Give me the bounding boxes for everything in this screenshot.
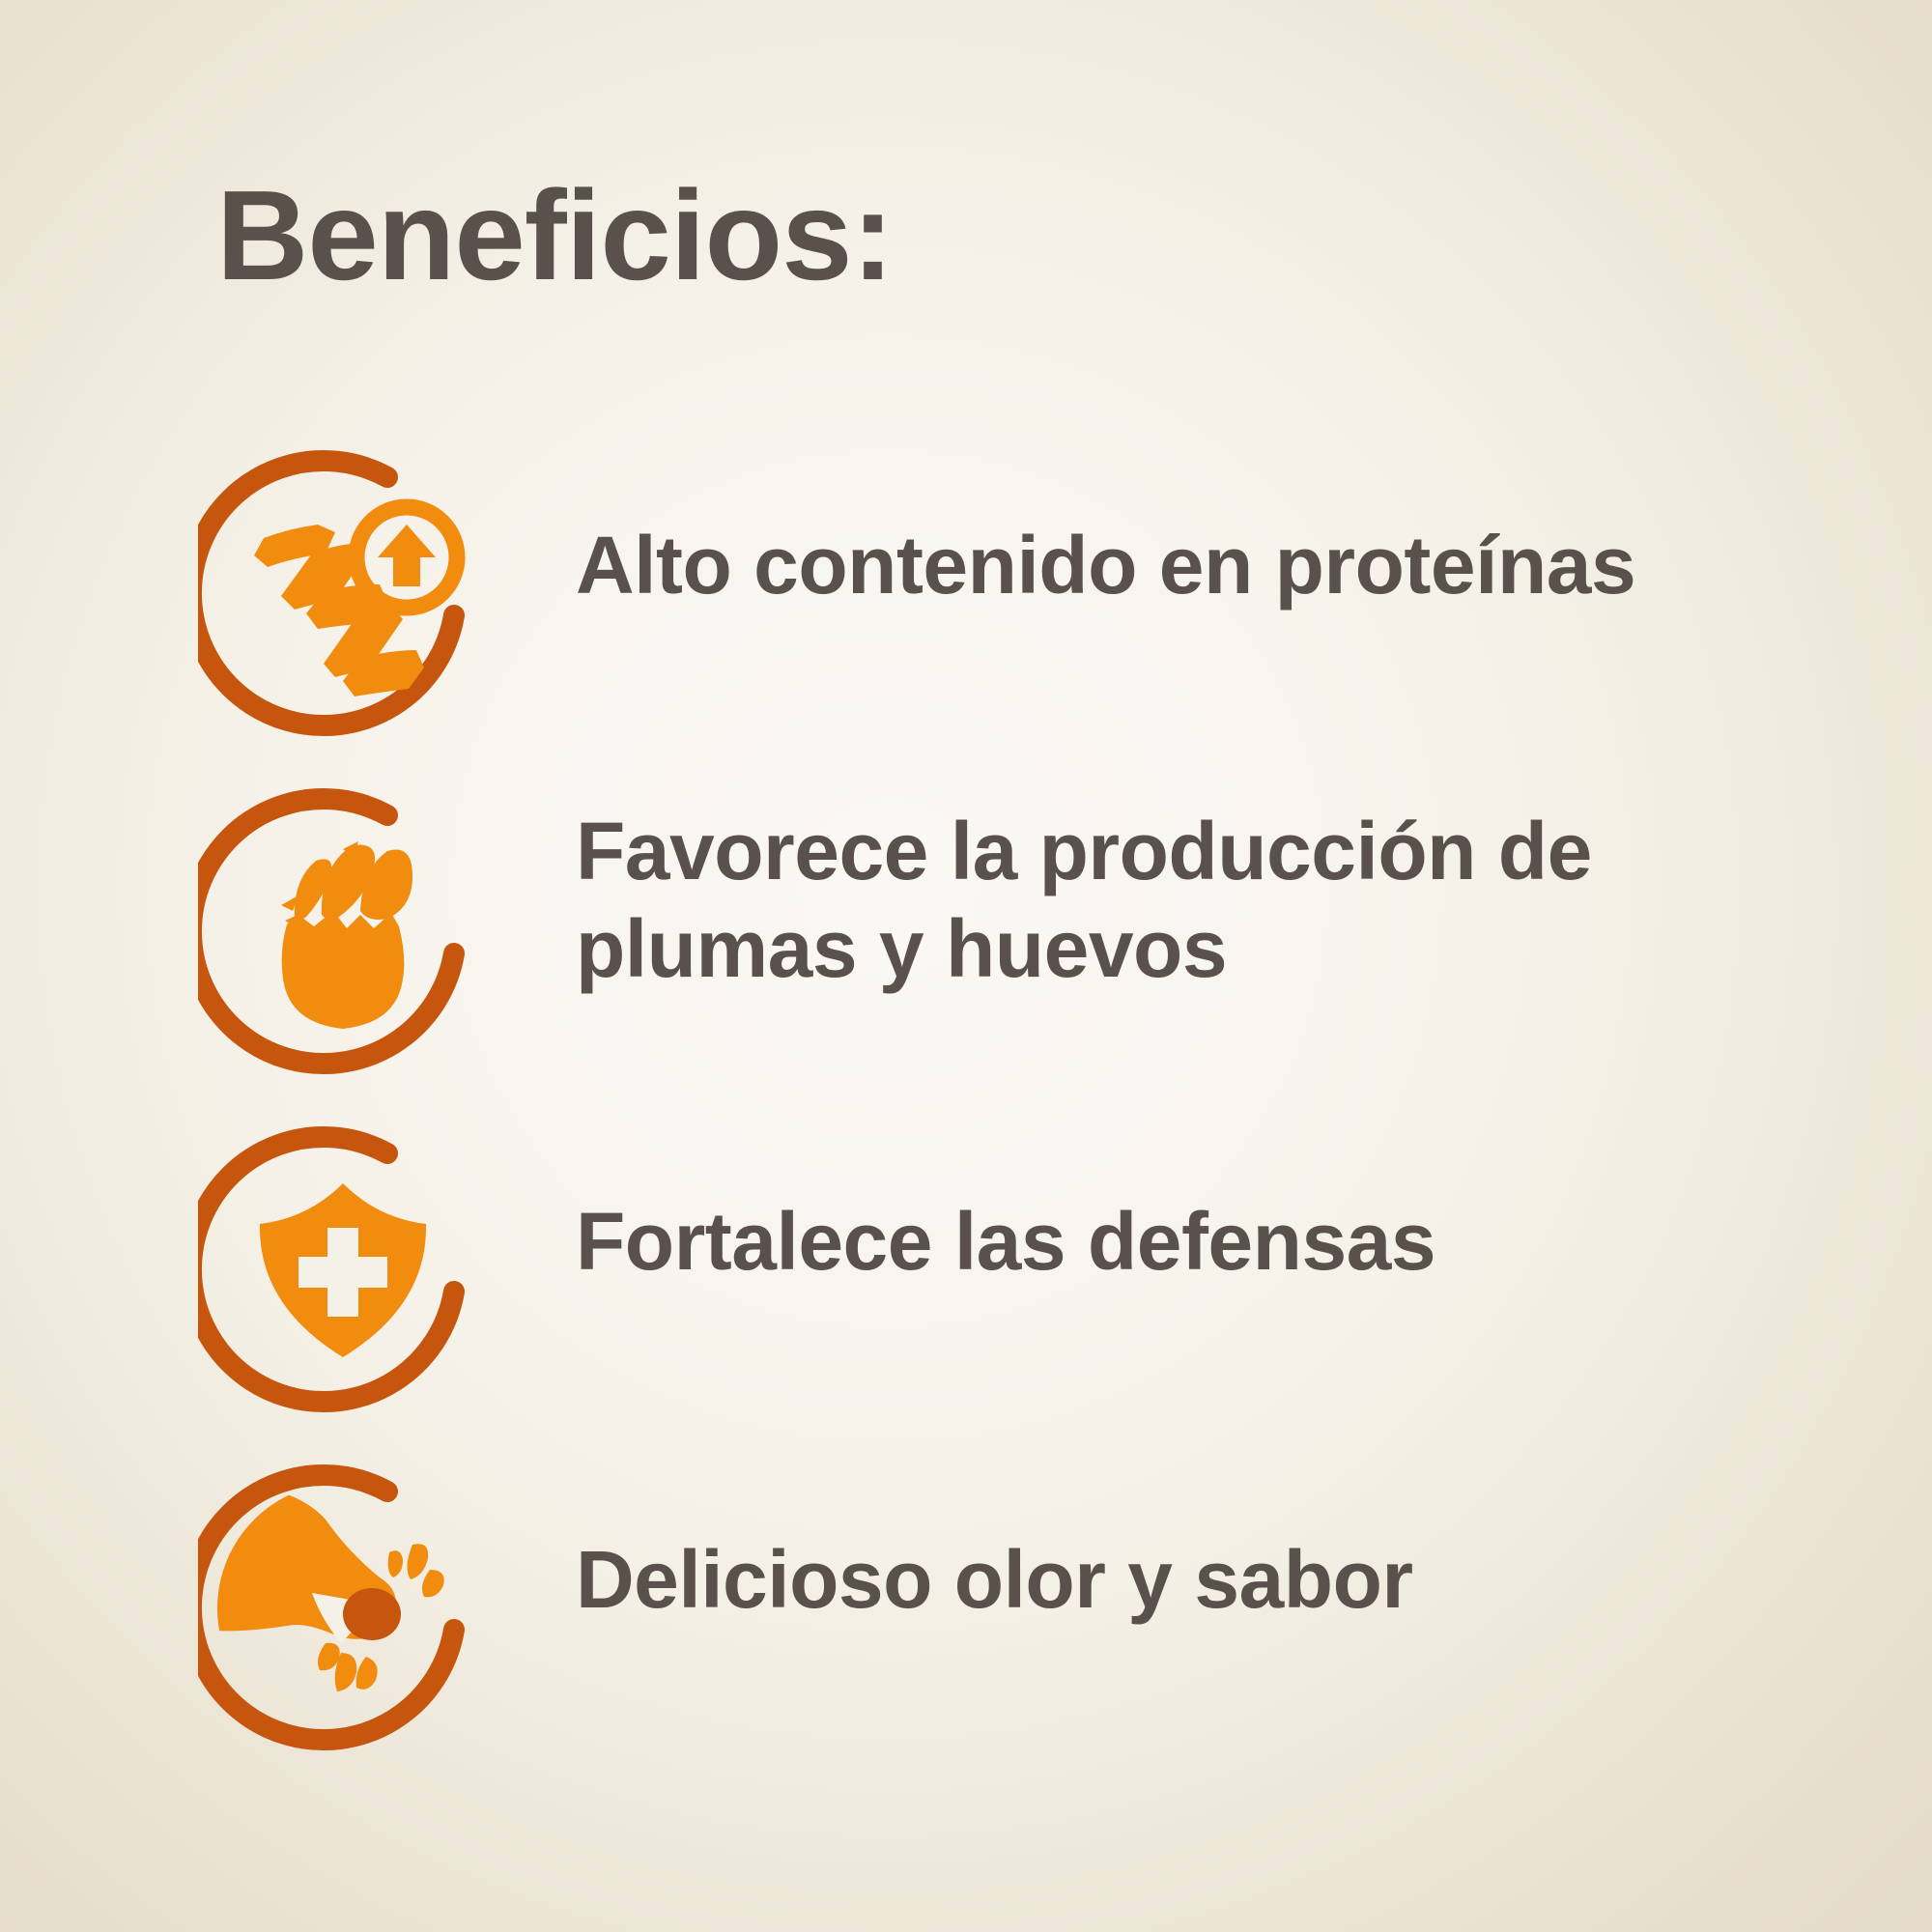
benefit-row: Fortalece las defensas	[0, 1096, 1932, 1435]
benefit-label: Favorece la producción de plumas y huevo…	[576, 803, 1861, 998]
benefit-row: Favorece la producción de plumas y huevo…	[0, 758, 1932, 1096]
benefit-label-line: Fortalece las defensas	[576, 1193, 1861, 1291]
protein-molecule-icon	[198, 449, 488, 739]
benefit-label-line: Delicioso olor y sabor	[576, 1531, 1861, 1629]
cracked-egg-feather-icon	[198, 787, 488, 1077]
benefit-label: Fortalece las defensas	[576, 1193, 1861, 1291]
benefit-label-line: Alto contenido en proteínas	[576, 517, 1861, 614]
page-title: Beneficios:	[216, 172, 894, 299]
benefits-poster: Beneficios:	[0, 0, 1932, 1932]
benefit-label: Alto contenido en proteínas	[576, 517, 1861, 614]
benefit-row: Alto contenido en proteínas	[0, 420, 1932, 758]
shield-plus-icon	[198, 1125, 488, 1415]
benefit-row: Delicioso olor y sabor	[0, 1435, 1932, 1773]
benefit-label-line: Favorece la producción de	[576, 803, 1861, 900]
benefit-label-line: plumas y huevos	[576, 900, 1861, 998]
benefit-label: Delicioso olor y sabor	[576, 1531, 1861, 1629]
nose-aroma-icon	[198, 1463, 488, 1753]
